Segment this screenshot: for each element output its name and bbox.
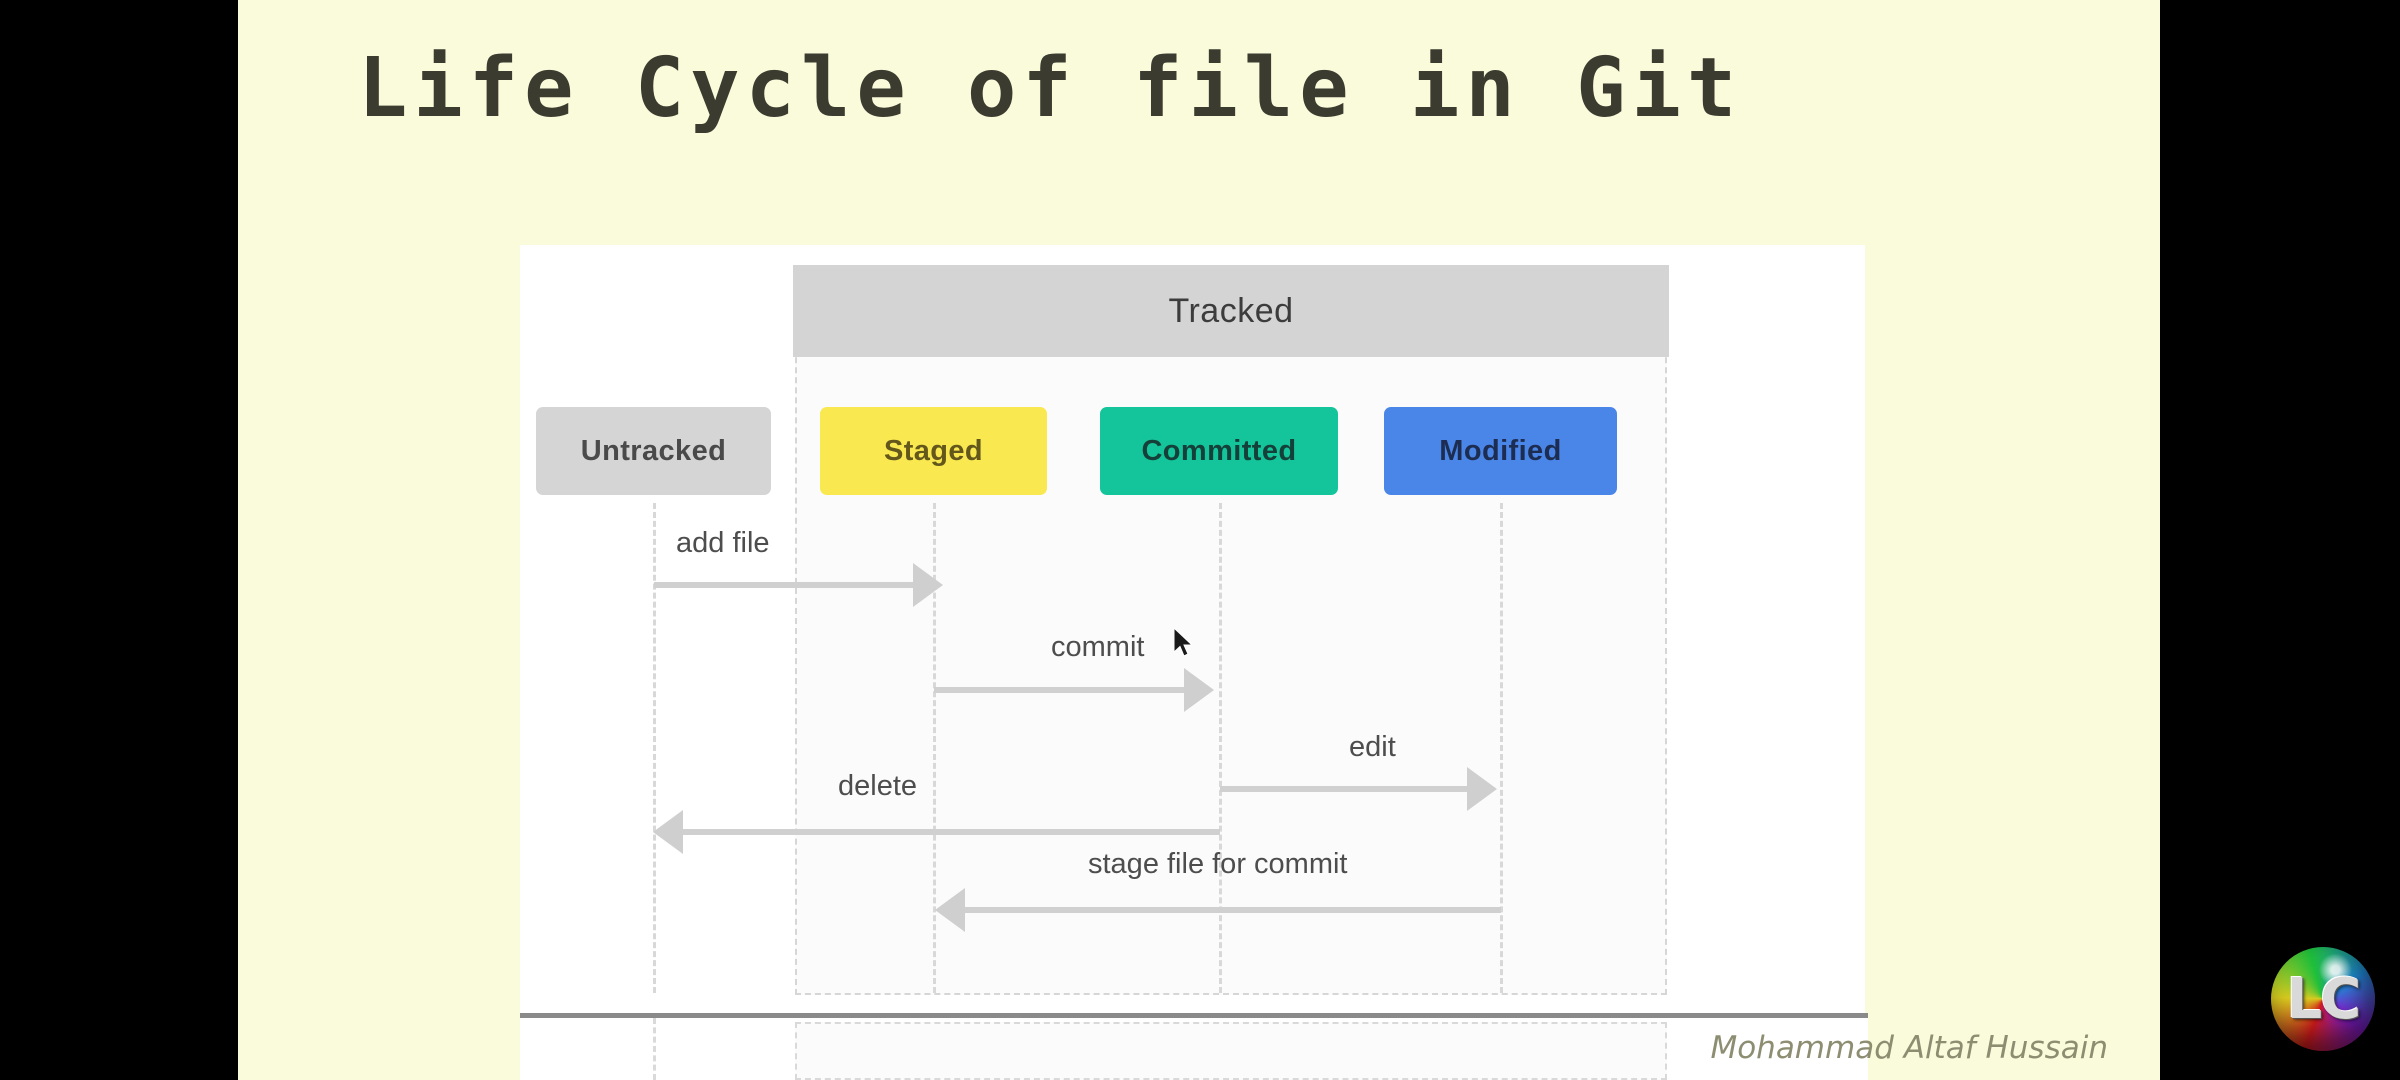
transition-arrowhead-add-file [913, 563, 943, 607]
next-slide-strip [520, 1018, 1868, 1080]
transition-label-edit: edit [1349, 731, 1396, 764]
state-box-modified[interactable]: Modified [1384, 407, 1617, 495]
transition-arrowhead-commit [1184, 668, 1214, 712]
transition-line-add-file [654, 582, 915, 588]
state-box-untracked[interactable]: Untracked [536, 407, 771, 495]
lc-logo-sphere: LC [2271, 947, 2375, 1051]
transition-label-add-file: add file [676, 527, 770, 560]
transition-line-stage-file [965, 907, 1501, 913]
lifeline-untracked [653, 503, 656, 993]
tracked-header: Tracked [793, 265, 1669, 357]
slide-canvas: Life Cycle of file in Git Tracked Untrac… [238, 0, 2160, 1080]
transition-label-delete: delete [838, 770, 917, 803]
transition-arrowhead-edit [1467, 767, 1497, 811]
transition-arrowhead-delete [653, 810, 683, 854]
strip-tracked-region [795, 1022, 1667, 1080]
state-box-committed[interactable]: Committed [1100, 407, 1338, 495]
state-label-staged: Staged [884, 435, 983, 468]
lifeline-modified [1500, 503, 1503, 993]
lc-logo: LC [2264, 940, 2382, 1058]
lc-logo-text: LC [2287, 967, 2360, 1032]
transition-line-commit [934, 687, 1186, 693]
tracked-region [795, 267, 1667, 995]
letterbox-left [0, 0, 238, 1080]
strip-lifeline-untracked [653, 1018, 656, 1080]
transition-line-delete [683, 829, 1220, 835]
transition-arrowhead-stage-file [935, 888, 965, 932]
author-watermark: Mohammad Altaf Hussain [1710, 1030, 2108, 1066]
state-label-untracked: Untracked [581, 435, 726, 468]
letterbox-right [2160, 0, 2400, 1080]
transition-label-commit: commit [1051, 631, 1144, 664]
tracked-header-label: Tracked [1168, 292, 1293, 331]
state-label-modified: Modified [1439, 435, 1561, 468]
state-label-committed: Committed [1141, 435, 1296, 468]
lifeline-committed [1219, 503, 1222, 993]
state-box-staged[interactable]: Staged [820, 407, 1047, 495]
transition-label-stage-file: stage file for commit [1088, 848, 1347, 881]
page-title: Life Cycle of file in Git [358, 48, 1742, 130]
transition-line-edit [1220, 786, 1469, 792]
